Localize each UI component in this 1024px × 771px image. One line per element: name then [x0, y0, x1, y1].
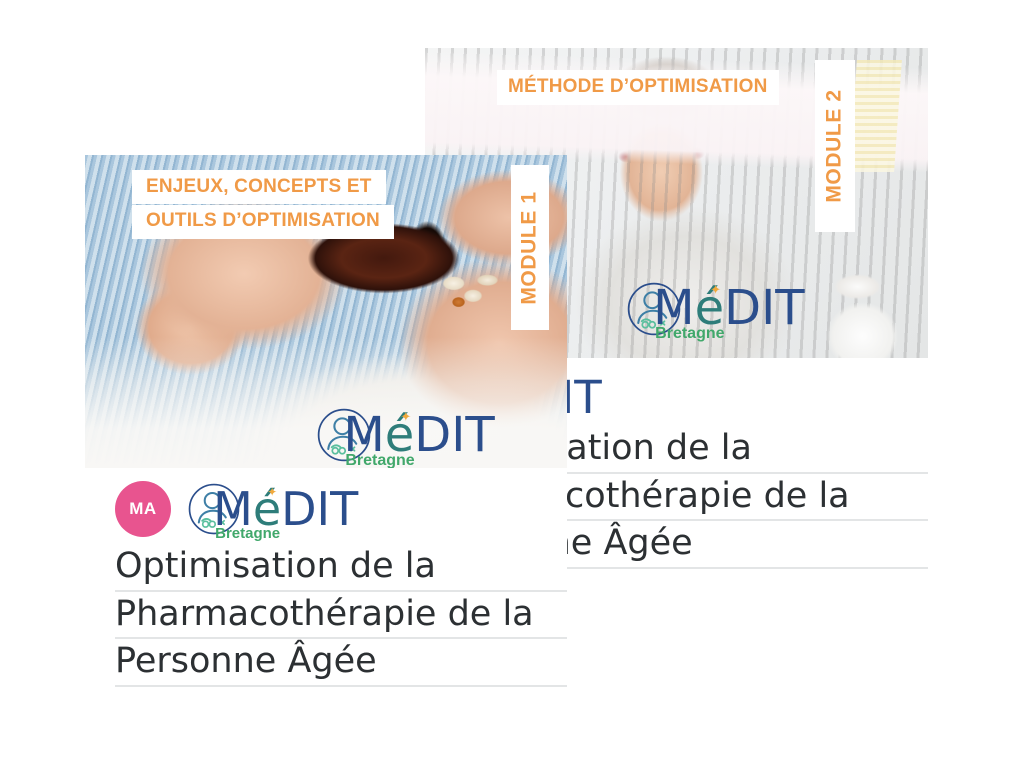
medit-wordmark: MéDIT — [213, 488, 358, 530]
course-title-line-3: Personne Âgée — [115, 639, 567, 687]
module-badge-module-2: MODULE 2 — [815, 60, 855, 232]
course-title-line-2: Pharmacothérapie de la — [115, 592, 567, 640]
overlay-title-module-1: ENJEUX, CONCEPTS ET OUTILS D’OPTIMISATIO… — [132, 170, 394, 239]
module-badge-module-1: MODULE 1 — [511, 165, 549, 330]
course-cards-stage: MÉTHODE D’OPTIMISATION MODULE 2 — [0, 0, 1024, 771]
medit-wordmark: MéDIT — [343, 413, 494, 457]
course-title-module-1[interactable]: Optimisation de la Pharmacothérapie de l… — [85, 540, 567, 687]
star-icon: ✦ — [400, 410, 411, 423]
medit-subtitle: Bretagne — [345, 453, 414, 468]
medit-logo-on-photo-module-2: MéDIT ✦ Bretagne — [626, 281, 833, 337]
medit-logo-on-photo-module-1: MéDIT ✦ Bretagne — [316, 407, 523, 463]
course-card-header-module-1: MA — [85, 478, 567, 540]
medit-wordmark: MéDIT — [653, 286, 804, 330]
course-card-body-module-1: MA — [85, 468, 567, 687]
medit-subtitle: Bretagne — [215, 526, 280, 541]
course-thumbnail-module-1[interactable]: ENJEUX, CONCEPTS ET OUTILS D’OPTIMISATIO… — [85, 155, 567, 468]
overlay-title-line-1: MÉTHODE D’OPTIMISATION — [497, 70, 779, 105]
course-card-module-1[interactable]: ENJEUX, CONCEPTS ET OUTILS D’OPTIMISATIO… — [85, 155, 567, 715]
overlay-title-line-1: ENJEUX, CONCEPTS ET — [132, 170, 386, 204]
medit-logo-module-1: MéDIT ✦ Bretagne — [187, 482, 386, 536]
overlay-title-line-2: OUTILS D’OPTIMISATION — [132, 205, 394, 239]
medit-subtitle: Bretagne — [655, 326, 724, 342]
overlay-title-module-2: MÉTHODE D’OPTIMISATION — [497, 70, 779, 105]
course-title-line-1: Optimisation de la — [115, 544, 567, 592]
star-icon: ✦ — [710, 283, 721, 296]
star-icon: ✦ — [267, 486, 277, 498]
avatar[interactable]: MA — [115, 481, 171, 537]
wall-art-decor — [849, 60, 902, 172]
